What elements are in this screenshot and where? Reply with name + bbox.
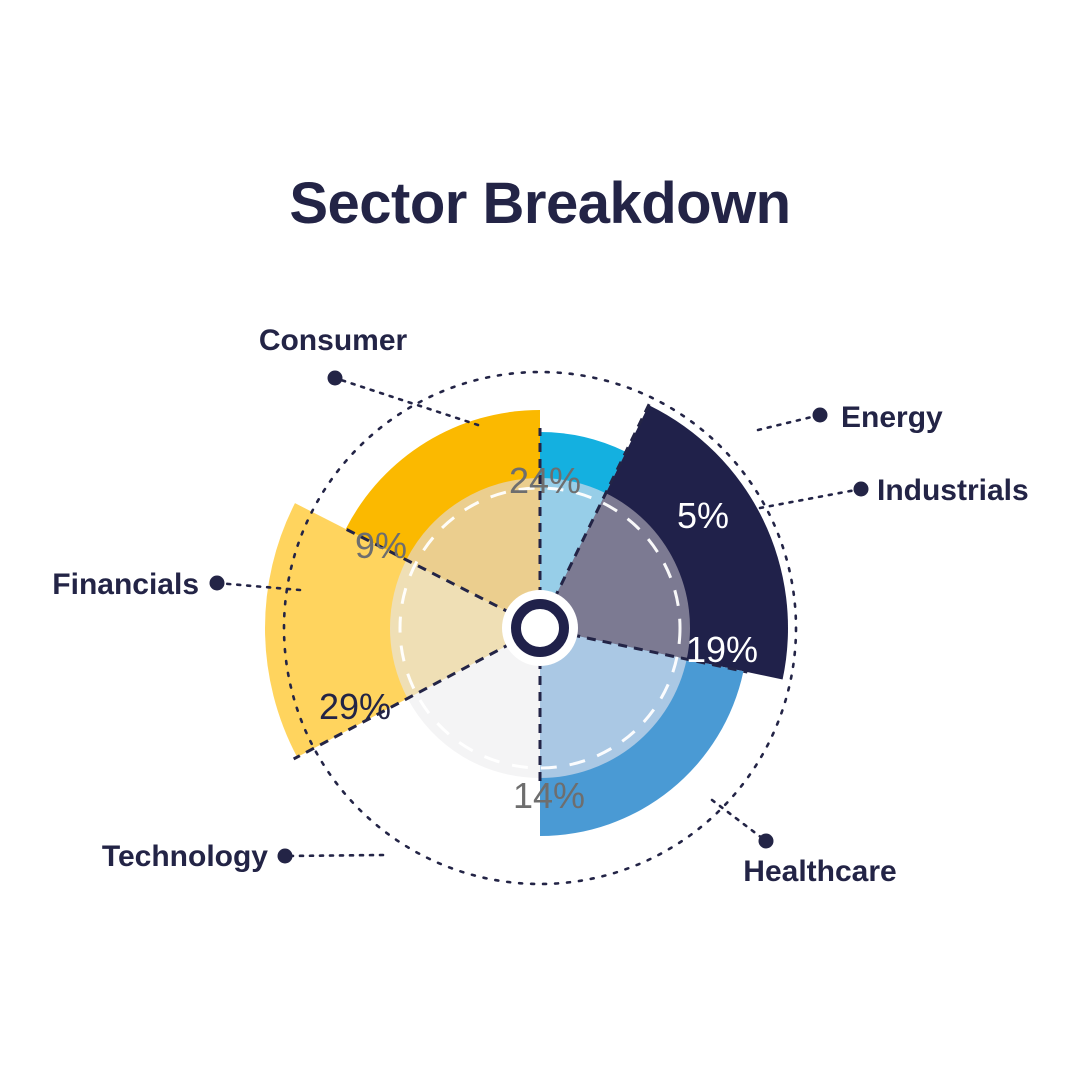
leader-line-consumer [335, 378, 478, 425]
center-hub [502, 590, 578, 666]
callout-label-technology[interactable]: Technology [102, 840, 268, 873]
value-label-consumer: 24% [509, 460, 581, 501]
leader-dot-consumer [328, 371, 343, 386]
leader-dot-financials [210, 576, 225, 591]
callout-label-consumer[interactable]: Consumer [259, 324, 408, 357]
leader-line-energy [758, 415, 820, 430]
leader-dot-technology [278, 849, 293, 864]
value-label-financials: 9% [355, 525, 407, 566]
leader-dot-industrials [854, 482, 869, 497]
leader-line-industrials [760, 489, 861, 508]
leader-dot-energy [813, 408, 828, 423]
value-label-technology: 14% [513, 775, 585, 816]
callout-label-financials[interactable]: Financials [52, 568, 199, 601]
value-label-healthcare: 19% [686, 629, 758, 670]
leader-line-healthcare [712, 800, 766, 841]
rose-chart: 24%5%19%14%29%9% ConsumerEnergyIndustria… [0, 0, 1080, 1080]
leader-dot-healthcare [759, 834, 774, 849]
callout-label-industrials[interactable]: Industrials [877, 474, 1029, 507]
chart-canvas: Sector Breakdown 24%5%19%14%29%9% Consum… [0, 0, 1080, 1080]
callout-label-healthcare[interactable]: Healthcare [743, 855, 896, 888]
callout-label-energy[interactable]: Energy [841, 401, 943, 434]
leader-line-technology [285, 855, 383, 856]
value-label-industrials: 5% [677, 495, 729, 536]
value-label-energy: 29% [319, 686, 391, 727]
